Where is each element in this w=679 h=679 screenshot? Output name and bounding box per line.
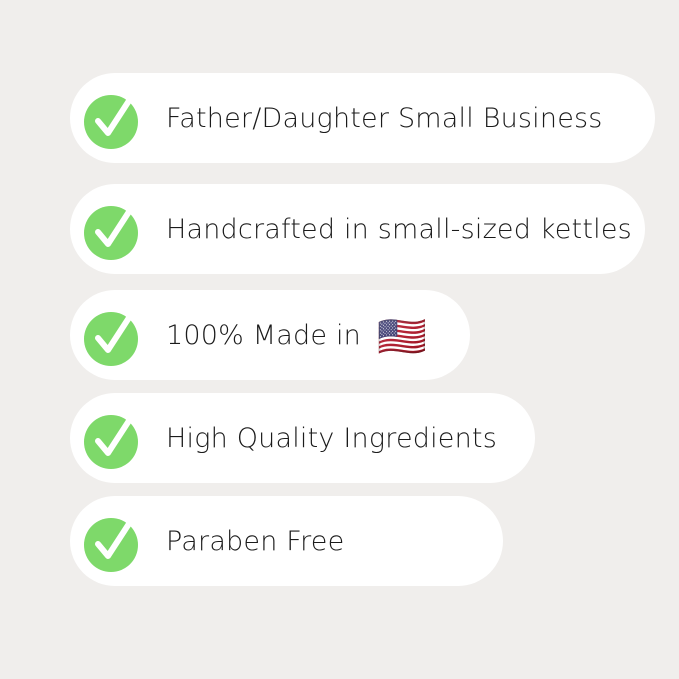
feature-row-3: 100% Made in 🇺🇸 [70, 290, 470, 380]
feature-label: 100% Made in [166, 322, 361, 349]
feature-label-wrap: Paraben Free [138, 528, 344, 555]
feature-label-wrap: Father/Daughter Small Business [138, 105, 603, 132]
us-flag-icon: 🇺🇸 [377, 317, 427, 357]
feature-row-2: Handcrafted in small-sized kettles [70, 184, 645, 274]
check-circle-icon [84, 308, 138, 362]
check-circle-icon [84, 411, 138, 465]
feature-label-wrap: 100% Made in 🇺🇸 [138, 315, 427, 355]
feature-row-4: High Quality Ingredients [70, 393, 535, 483]
feature-row-1: Father/Daughter Small Business [70, 73, 655, 163]
feature-label-wrap: High Quality Ingredients [138, 425, 497, 452]
feature-row-5: Paraben Free [70, 496, 503, 586]
check-circle-icon [84, 91, 138, 145]
feature-list: Father/Daughter Small Business Handcraft… [0, 0, 679, 679]
feature-label: High Quality Ingredients [166, 425, 497, 452]
feature-label-wrap: Handcrafted in small-sized kettles [138, 216, 632, 243]
check-circle-icon [84, 514, 138, 568]
feature-label: Father/Daughter Small Business [166, 105, 603, 132]
check-circle-icon [84, 202, 138, 256]
feature-label: Handcrafted in small-sized kettles [166, 216, 632, 243]
feature-label: Paraben Free [166, 528, 344, 555]
